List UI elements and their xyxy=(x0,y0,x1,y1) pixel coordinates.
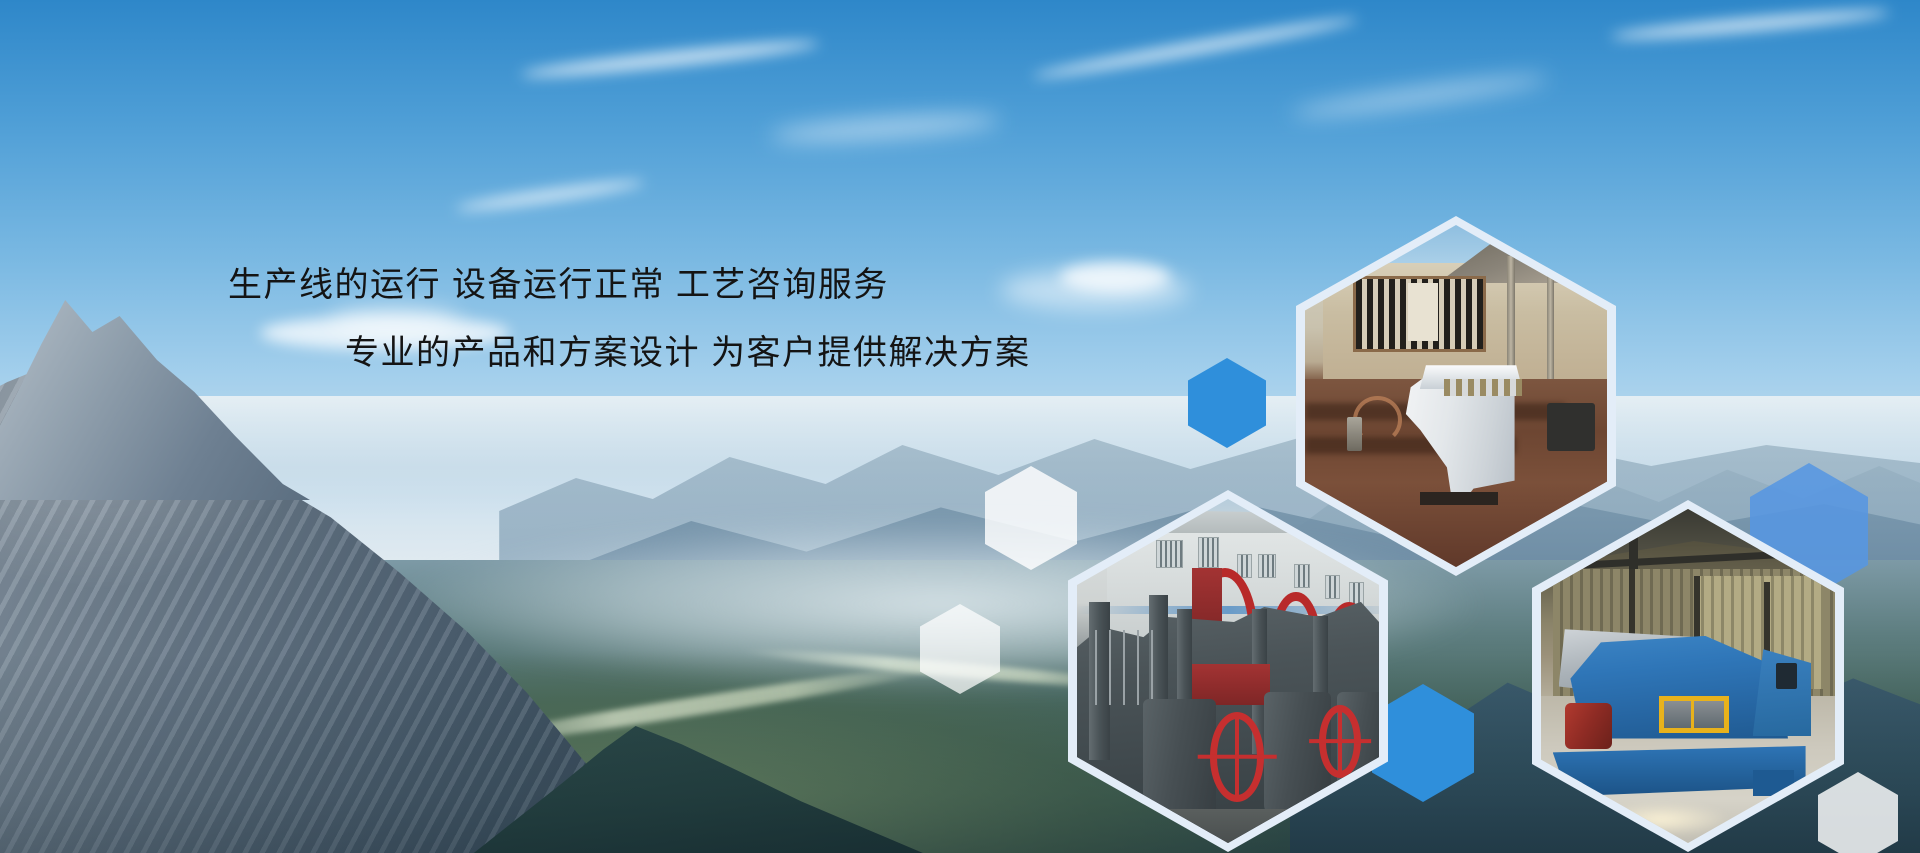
hex-photo-ladle-image xyxy=(1305,225,1607,567)
headline-block: 生产线的运行 设备运行正常 工艺咨询服务 专业的产品和方案设计 为客户提供解决方… xyxy=(0,268,1100,370)
photo-machine-base xyxy=(1420,492,1499,506)
hex-photo-shredder-image xyxy=(1541,509,1835,843)
hero-banner: 生产线的运行 设备运行正常 工艺咨询服务 专业的产品和方案设计 为客户提供解决方… xyxy=(0,0,1920,853)
photo-factory-window xyxy=(1325,575,1340,599)
photo-factory-window xyxy=(1294,564,1309,588)
headline-line-2: 专业的产品和方案设计 为客户提供解决方案 xyxy=(0,336,1100,370)
photo-briquette-press-machines xyxy=(1077,499,1379,843)
photo-wall-pillar xyxy=(1547,256,1555,379)
photo-machine-bolts xyxy=(1444,379,1523,396)
photo-base-foot xyxy=(1753,770,1794,797)
photo-roof-truss xyxy=(1576,550,1799,568)
photo-wall-pillar xyxy=(1507,256,1515,379)
photo-red-handwheel xyxy=(1319,705,1361,777)
photo-yellow-divider xyxy=(1691,696,1694,733)
photo-window-pane xyxy=(1408,283,1438,341)
photo-ladle-casting-machine xyxy=(1305,225,1607,567)
photo-red-motor xyxy=(1565,703,1612,750)
photo-cabinet-window xyxy=(1776,663,1797,690)
photo-factory-window xyxy=(1258,554,1276,578)
photo-factory-window xyxy=(1198,537,1219,568)
hex-photo-press-image xyxy=(1077,499,1379,843)
photo-factory-window xyxy=(1156,540,1183,568)
photo-barrel xyxy=(1347,417,1362,451)
photo-red-handwheel xyxy=(1210,712,1264,801)
photo-dark-equipment xyxy=(1547,403,1595,451)
photo-blue-shredder-machine xyxy=(1541,509,1835,843)
photo-machine-rail xyxy=(1095,630,1161,706)
headline-line-1: 生产线的运行 设备运行正常 工艺咨询服务 xyxy=(0,268,1100,302)
